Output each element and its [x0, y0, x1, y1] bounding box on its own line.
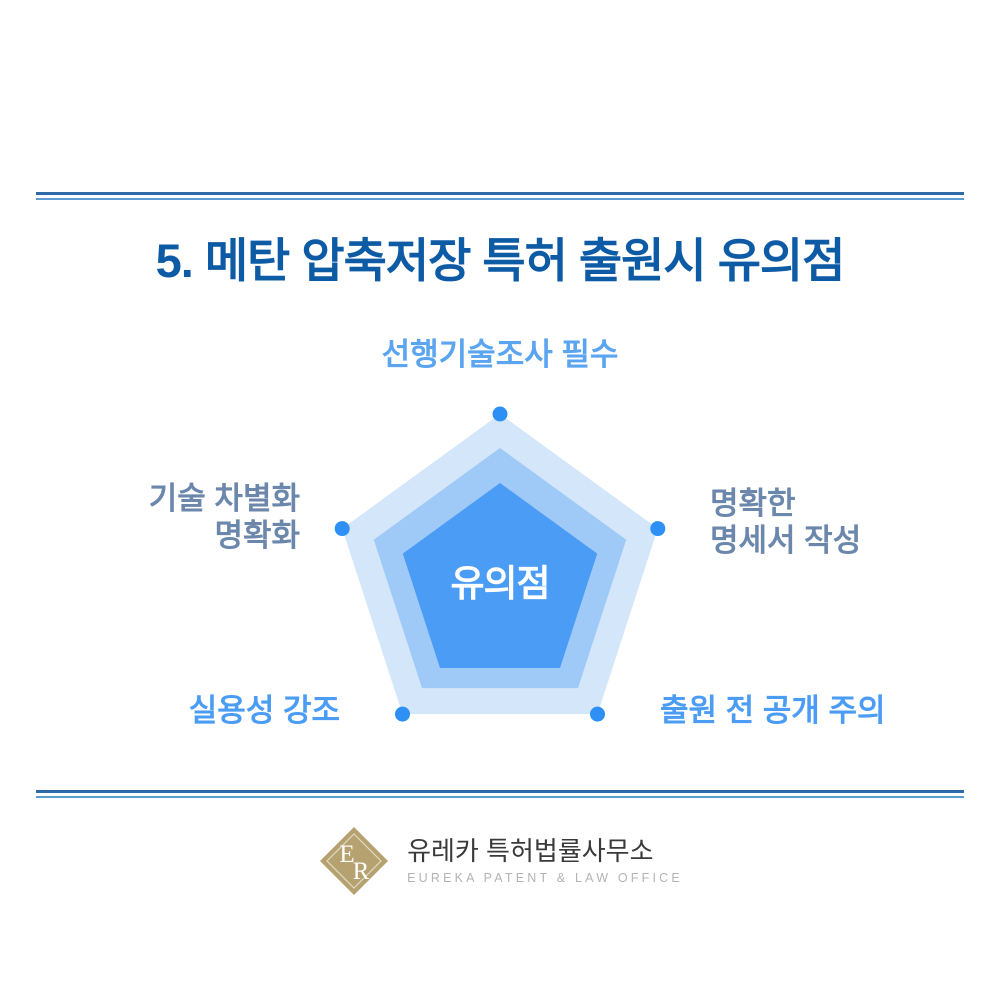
footer-logo: E R 유레카 특허법률사무소 EUREKA PATENT & LAW OFFI…	[0, 824, 1000, 898]
pentagon-vertex-dot-right	[650, 521, 665, 536]
node-label-bottom-left: 실용성 강조	[20, 692, 340, 729]
page-title: 5. 메탄 압축저장 특허 출원시 유의점	[0, 222, 1000, 291]
eureka-diamond-icon: E R	[317, 824, 391, 898]
monogram-r-icon: R	[353, 858, 370, 885]
top-divider	[36, 192, 964, 200]
node-label-top: 선행기술조사 필수	[300, 336, 700, 373]
node-label-right: 명확한 명세서 작성	[710, 485, 990, 559]
divider-thin-line	[36, 198, 964, 200]
pentagon-vertex-dot-top	[493, 407, 508, 422]
node-label-bottom-right: 출원 전 공개 주의	[660, 692, 980, 729]
node-label-left-line2: 명확화	[20, 517, 300, 554]
node-label-left-line1: 기술 차별화	[20, 480, 300, 517]
node-label-right-line1: 명확한	[710, 485, 990, 522]
diamond-logo-svg: E R	[317, 824, 391, 898]
pentagon-vertex-dot-bottom-right	[590, 707, 605, 722]
logo-text-block: 유레카 특허법률사무소 EUREKA PATENT & LAW OFFICE	[407, 837, 683, 886]
pentagon-vertex-dot-bottom-left	[395, 707, 410, 722]
bottom-divider	[36, 790, 964, 798]
pentagon-vertex-dot-left	[335, 521, 350, 536]
node-label-right-line2: 명세서 작성	[710, 522, 990, 559]
pentagon-diagram: 유의점 선행기술조사 필수 기술 차별화 명확화 명확한 명세서 작성 실용성 …	[0, 300, 1000, 780]
node-label-left: 기술 차별화 명확화	[20, 480, 300, 554]
firm-name-korean: 유레카 특허법률사무소	[407, 837, 683, 867]
pentagon-center-label: 유의점	[400, 553, 600, 607]
divider-thin-line	[36, 796, 964, 798]
firm-name-english: EUREKA PATENT & LAW OFFICE	[407, 871, 683, 885]
